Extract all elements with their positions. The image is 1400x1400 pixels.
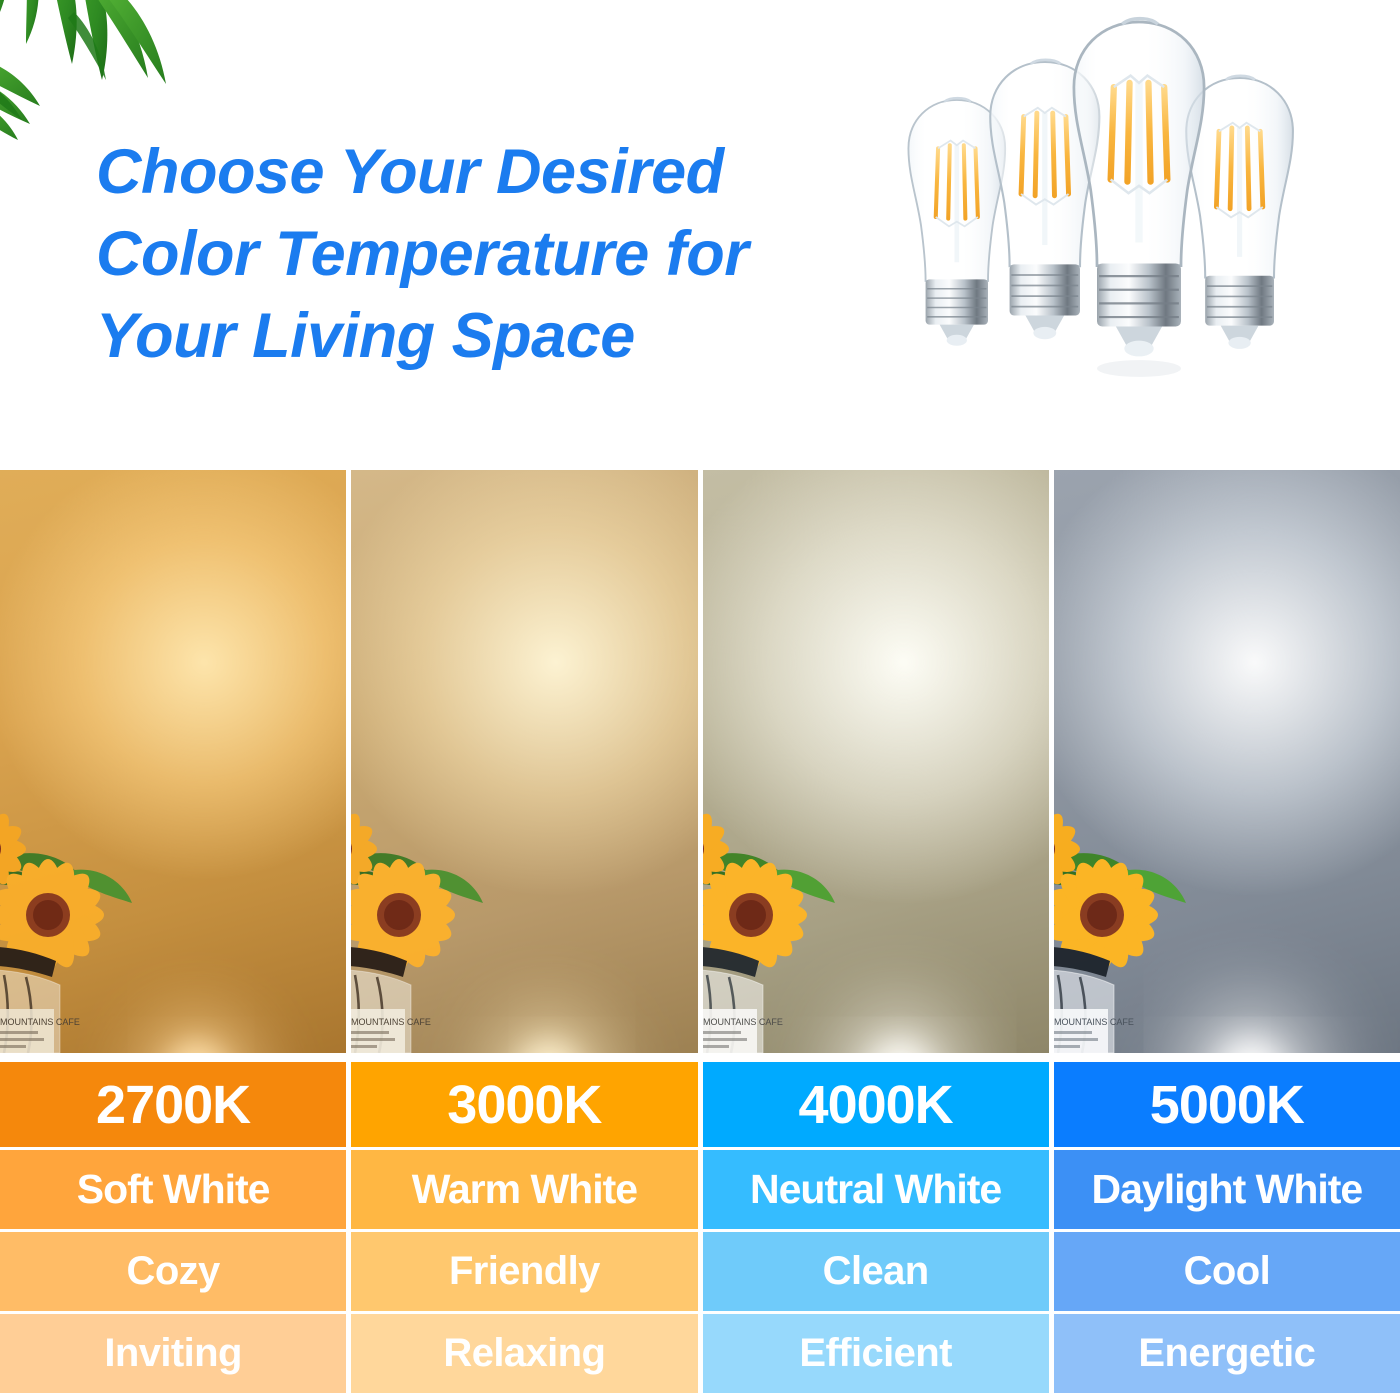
photo-panel-2700k: BLUE MOUNTAINS CAFE <box>0 470 346 1053</box>
jar-label-3000k: BLUE MOUNTAINS CAFE <box>351 1017 431 1027</box>
mood-label-4000k-1: Clean <box>703 1232 1049 1311</box>
color-temperature-legend: 2700K Soft White Cozy Inviting 3000K War… <box>0 1062 1400 1400</box>
photo-panel-4000k: BLUE MOUNTAINS CAFE <box>703 470 1049 1053</box>
photo-panel-5000k: BLUE MOUNTAINS CAFE <box>1054 470 1400 1053</box>
kelvin-label-2700k: 2700K <box>0 1062 346 1147</box>
kelvin-label-3000k: 3000K <box>351 1062 697 1147</box>
legend-column-5000k: 5000K Daylight White Cool Energetic <box>1054 1062 1400 1400</box>
sunflower-bouquet-5000k: BLUE MOUNTAINS CAFE <box>1054 753 1233 1053</box>
legend-column-3000k: 3000K Warm White Friendly Relaxing <box>351 1062 697 1400</box>
sunflower-bouquet-2700k: BLUE MOUNTAINS CAFE <box>0 753 179 1053</box>
mood-label-2700k-1: Cozy <box>0 1232 346 1311</box>
sunflower-bouquet-4000k: BLUE MOUNTAINS CAFE <box>703 753 882 1053</box>
photo-panel-3000k: BLUE MOUNTAINS CAFE <box>351 470 697 1053</box>
mood-label-3000k-1: Friendly <box>351 1232 697 1311</box>
jar-label-4000k: BLUE MOUNTAINS CAFE <box>703 1017 783 1027</box>
legend-column-4000k: 4000K Neutral White Clean Efficient <box>703 1062 1049 1400</box>
legend-column-2700k: 2700K Soft White Cozy Inviting <box>0 1062 346 1400</box>
hero-section: Choose Your Desired Color Temperature fo… <box>0 0 1400 470</box>
kelvin-label-5000k: 5000K <box>1054 1062 1400 1147</box>
name-label-2700k: Soft White <box>0 1150 346 1229</box>
mood-label-5000k-2: Energetic <box>1054 1314 1400 1393</box>
mood-label-5000k-1: Cool <box>1054 1232 1400 1311</box>
mood-label-3000k-2: Relaxing <box>351 1314 697 1393</box>
page-headline: Choose Your Desired Color Temperature fo… <box>96 132 896 378</box>
photo-comparison-strip: BLUE MOUNTAINS CAFE <box>0 470 1400 1053</box>
jar-label-5000k: BLUE MOUNTAINS CAFE <box>1054 1017 1134 1027</box>
name-label-4000k: Neutral White <box>703 1150 1049 1229</box>
name-label-3000k: Warm White <box>351 1150 697 1229</box>
sunflower-bouquet-3000k: BLUE MOUNTAINS CAFE <box>351 753 530 1053</box>
led-filament-bulb-group-icon <box>888 4 1348 466</box>
mood-label-2700k-2: Inviting <box>0 1314 346 1393</box>
mood-label-4000k-2: Efficient <box>703 1314 1049 1393</box>
name-label-5000k: Daylight White <box>1054 1150 1400 1229</box>
kelvin-label-4000k: 4000K <box>703 1062 1049 1147</box>
jar-label-2700k: BLUE MOUNTAINS CAFE <box>0 1017 80 1027</box>
